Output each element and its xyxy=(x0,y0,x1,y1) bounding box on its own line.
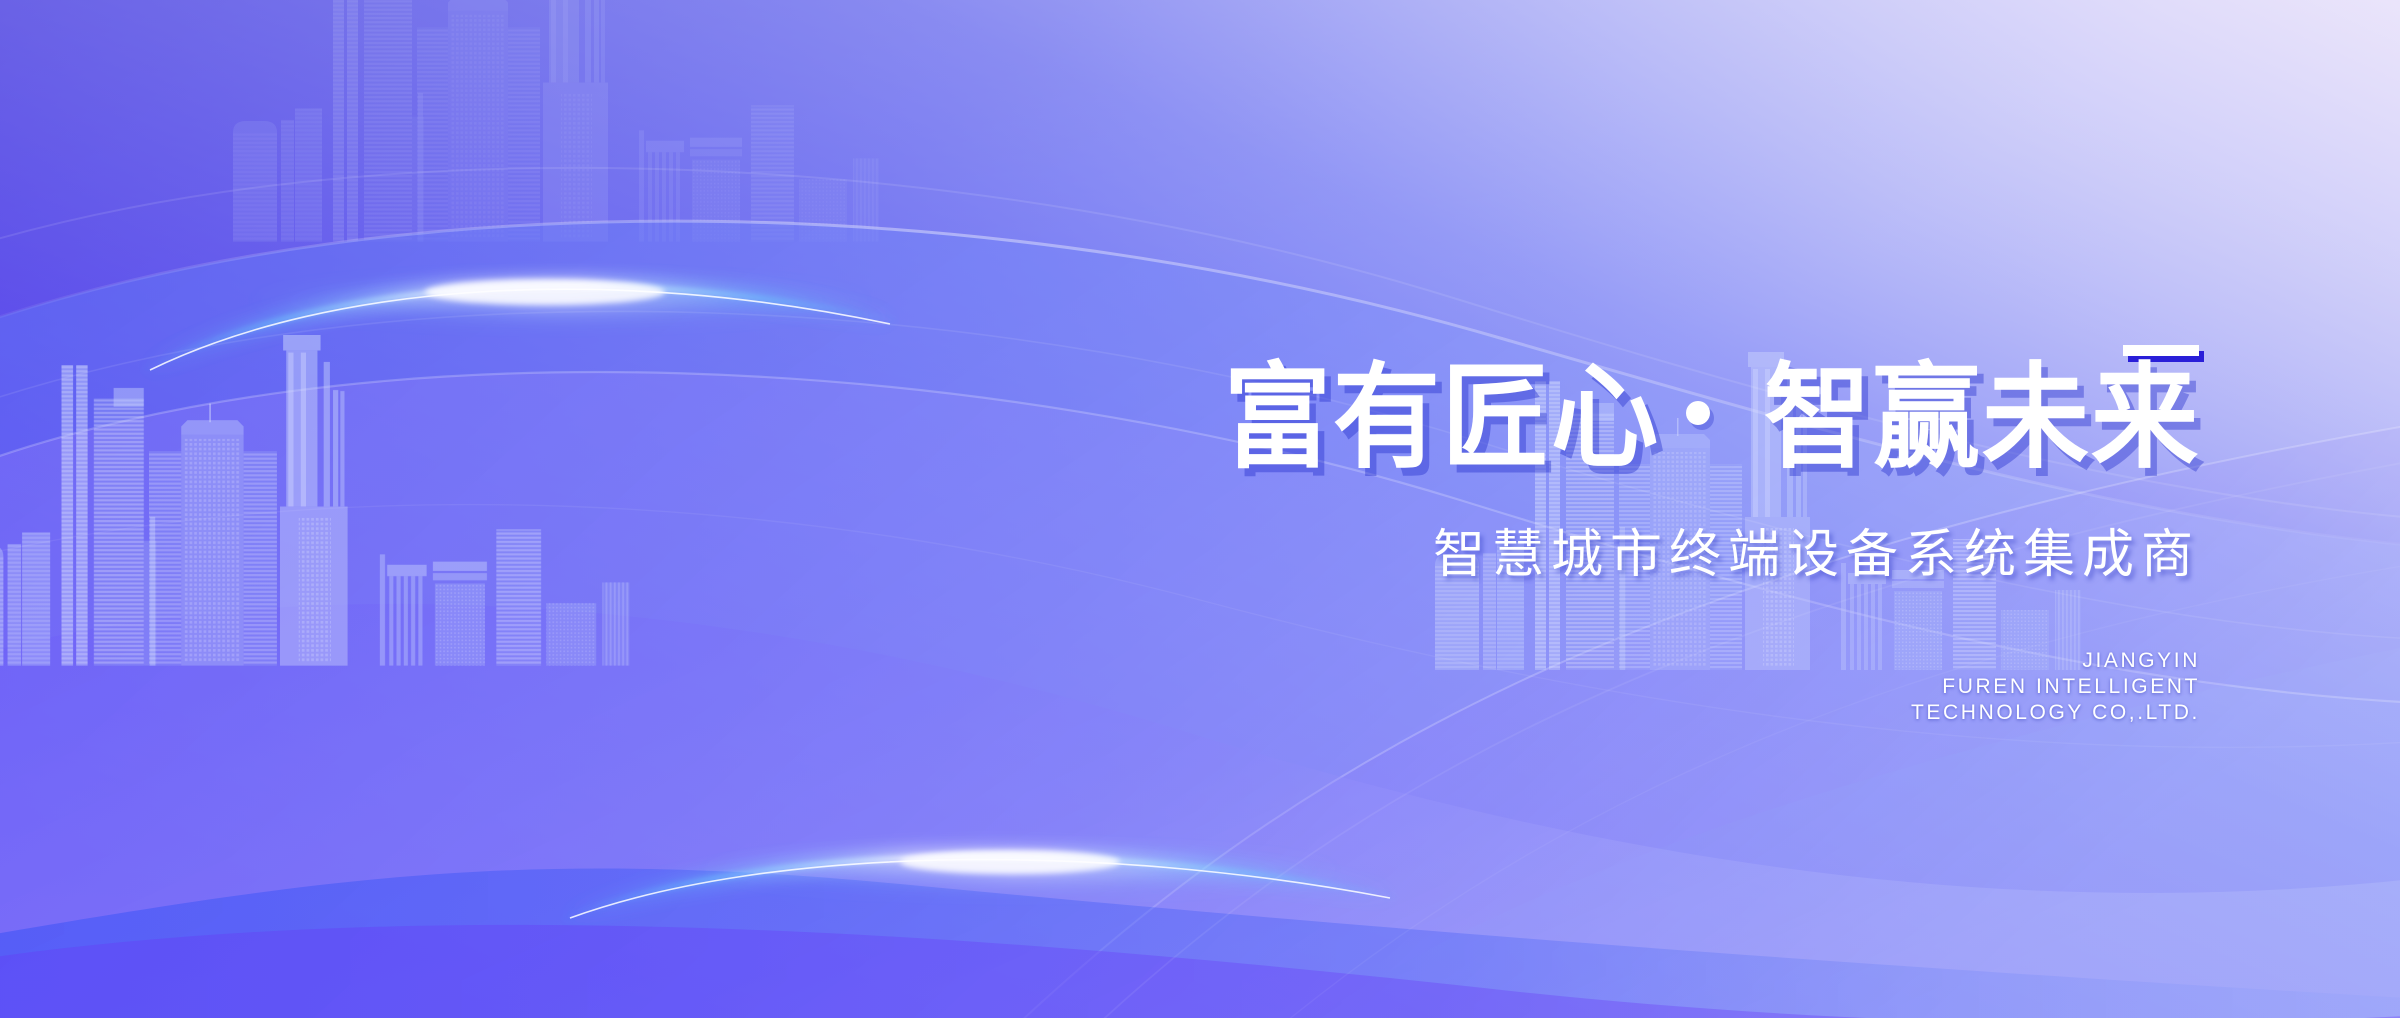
banner-root: 富有匠心 智赢未来 智慧城市终端设备系统集成商 JIANGYIN FUREN I… xyxy=(0,0,2400,1018)
background-artwork xyxy=(0,0,2400,1018)
